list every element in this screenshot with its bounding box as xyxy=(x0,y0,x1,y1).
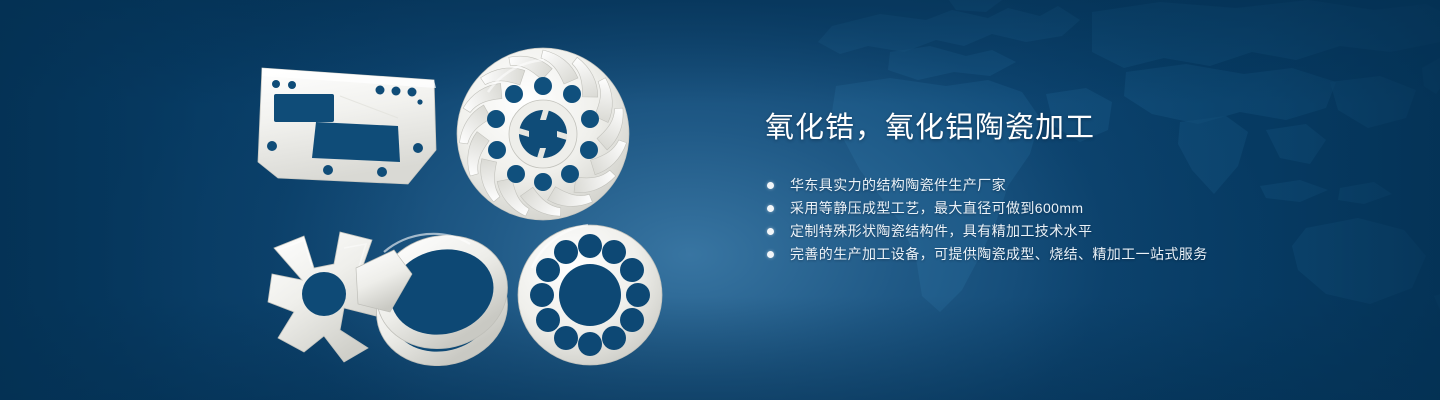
feature-text: 采用等静压成型工艺，最大直径可做到600mm xyxy=(790,200,1083,216)
ceramic-ring-icon xyxy=(350,216,525,366)
feature-text: 定制特殊形状陶瓷结构件，具有精加工技术水平 xyxy=(790,223,1092,239)
list-item: 完善的生产加工设备，可提供陶瓷成型、烧结、精加工一站式服务 xyxy=(767,243,1385,266)
banner-copy: 氧化锆，氧化铝陶瓷加工 华东具实力的结构陶瓷件生产厂家 采用等静压成型工艺，最大… xyxy=(765,108,1385,266)
page-title: 氧化锆，氧化铝陶瓷加工 xyxy=(765,108,1385,148)
list-item: 华东具实力的结构陶瓷件生产厂家 xyxy=(767,174,1385,197)
feature-text: 华东具实力的结构陶瓷件生产厂家 xyxy=(790,177,1006,193)
feature-list: 华东具实力的结构陶瓷件生产厂家 采用等静压成型工艺，最大直径可做到600mm 定… xyxy=(767,174,1385,266)
ceramic-plate-icon xyxy=(248,58,448,198)
feature-text: 完善的生产加工设备，可提供陶瓷成型、烧结、精加工一站式服务 xyxy=(790,246,1208,262)
dot-icon xyxy=(767,182,774,189)
ceramic-disc-icon xyxy=(510,220,670,370)
ceramic-impeller-icon xyxy=(448,40,638,225)
list-item: 采用等静压成型工艺，最大直径可做到600mm xyxy=(767,197,1385,220)
promo-banner: 氧化锆，氧化铝陶瓷加工 华东具实力的结构陶瓷件生产厂家 采用等静压成型工艺，最大… xyxy=(0,0,1440,400)
dot-icon xyxy=(767,205,774,212)
product-photo-group xyxy=(230,40,700,370)
list-item: 定制特殊形状陶瓷结构件，具有精加工技术水平 xyxy=(767,220,1385,243)
dot-icon xyxy=(767,228,774,235)
dot-icon xyxy=(767,251,774,258)
